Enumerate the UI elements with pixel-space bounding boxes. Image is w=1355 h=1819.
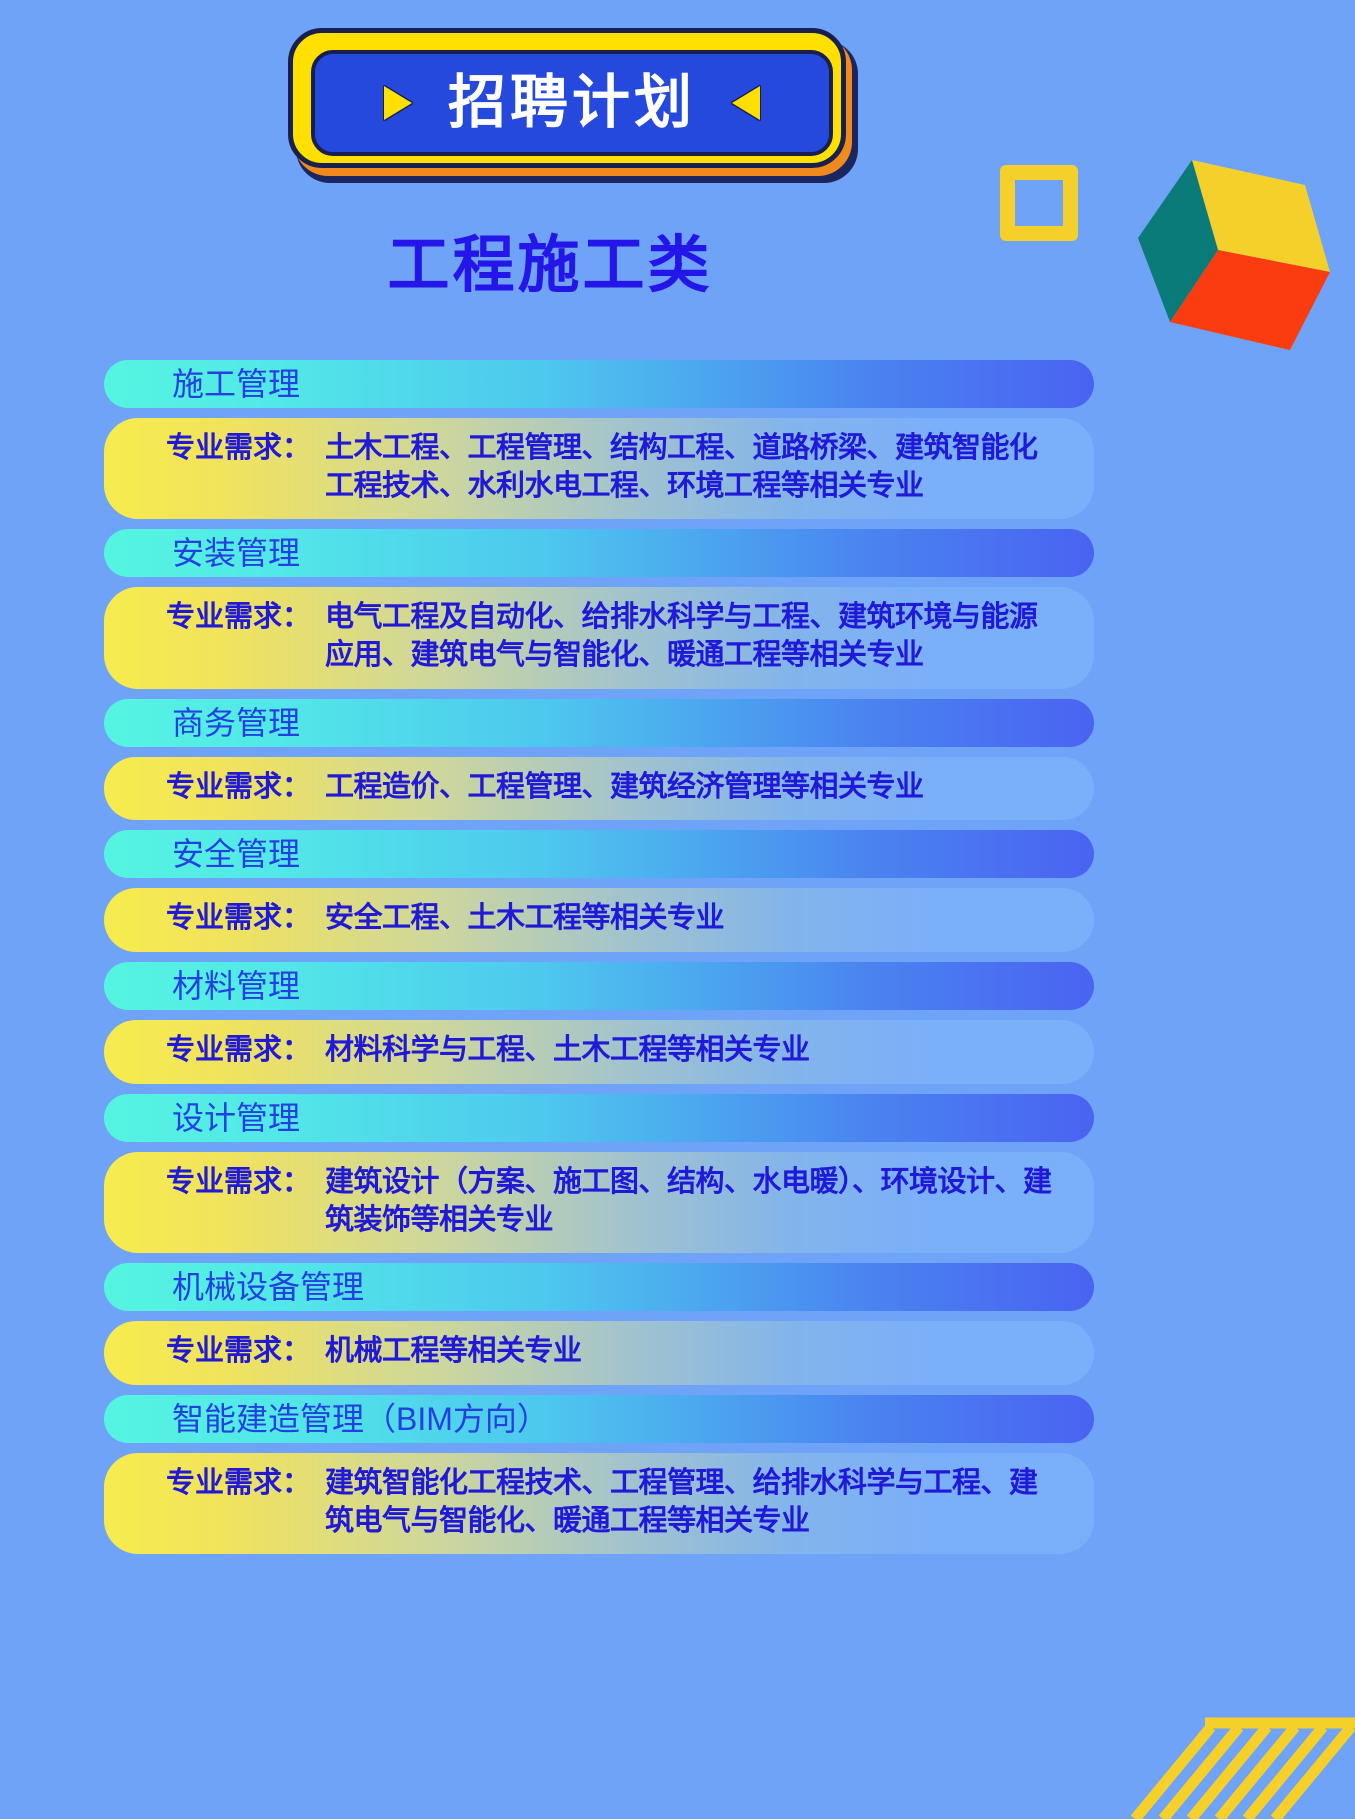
- job-block: 机械设备管理 专业需求： 机械工程等相关专业: [104, 1263, 1094, 1385]
- category-pill-6[interactable]: 机械设备管理: [104, 1263, 1094, 1311]
- requirement-label: 专业需求：: [166, 1032, 311, 1070]
- requirement-label: 专业需求：: [166, 430, 311, 468]
- header-banner: 招聘计划: [288, 28, 858, 183]
- job-block: 智能建造管理（BIM方向） 专业需求： 建筑智能化工程技术、工程管理、给排水科学…: [104, 1395, 1094, 1554]
- job-block: 安全管理 专业需求： 安全工程、土木工程等相关专业: [104, 830, 1094, 952]
- detail-pill-7: 专业需求： 建筑智能化工程技术、工程管理、给排水科学与工程、建筑电气与智能化、暖…: [104, 1453, 1094, 1554]
- category-pill-7[interactable]: 智能建造管理（BIM方向）: [104, 1395, 1094, 1443]
- category-pill-1[interactable]: 安装管理: [104, 529, 1094, 577]
- requirement-value: 机械工程等相关专业: [325, 1333, 582, 1371]
- category-label: 商务管理: [172, 707, 300, 739]
- detail-pill-4: 专业需求： 材料科学与工程、土木工程等相关专业: [104, 1020, 1094, 1084]
- category-label: 设计管理: [172, 1102, 300, 1134]
- requirement-value: 土木工程、工程管理、结构工程、道路桥梁、建筑智能化工程技术、水利水电工程、环境工…: [325, 430, 1064, 505]
- triangle-left-icon: [732, 86, 760, 120]
- job-list: 施工管理 专业需求： 土木工程、工程管理、结构工程、道路桥梁、建筑智能化工程技术…: [104, 360, 1094, 1564]
- job-block: 材料管理 专业需求： 材料科学与工程、土木工程等相关专业: [104, 962, 1094, 1084]
- banner-inner-panel: 招聘计划: [311, 50, 833, 156]
- detail-pill-1: 专业需求： 电气工程及自动化、给排水科学与工程、建筑环境与能源应用、建筑电气与智…: [104, 587, 1094, 688]
- requirement-label: 专业需求：: [166, 1164, 311, 1202]
- category-label: 智能建造管理（BIM方向）: [172, 1403, 549, 1435]
- detail-pill-0: 专业需求： 土木工程、工程管理、结构工程、道路桥梁、建筑智能化工程技术、水利水电…: [104, 418, 1094, 519]
- job-block: 施工管理 专业需求： 土木工程、工程管理、结构工程、道路桥梁、建筑智能化工程技术…: [104, 360, 1094, 519]
- requirement-value: 工程造价、工程管理、建筑经济管理等相关专业: [325, 769, 924, 807]
- category-label: 安装管理: [172, 537, 300, 569]
- requirement-value: 电气工程及自动化、给排水科学与工程、建筑环境与能源应用、建筑电气与智能化、暖通工…: [325, 599, 1064, 674]
- job-block: 商务管理 专业需求： 工程造价、工程管理、建筑经济管理等相关专业: [104, 699, 1094, 821]
- banner-title: 招聘计划: [448, 74, 696, 132]
- requirement-value: 建筑智能化工程技术、工程管理、给排水科学与工程、建筑电气与智能化、暖通工程等相关…: [325, 1465, 1064, 1540]
- detail-pill-5: 专业需求： 建筑设计（方案、施工图、结构、水电暖）、环境设计、建筑装饰等相关专业: [104, 1152, 1094, 1253]
- detail-pill-6: 专业需求： 机械工程等相关专业: [104, 1321, 1094, 1385]
- category-label: 机械设备管理: [172, 1271, 364, 1303]
- requirement-label: 专业需求：: [166, 1465, 311, 1503]
- requirement-label: 专业需求：: [166, 1333, 311, 1371]
- stripes-decoration: [1125, 1669, 1355, 1819]
- cube-icon: [1130, 150, 1355, 375]
- category-label: 材料管理: [172, 970, 300, 1002]
- category-pill-5[interactable]: 设计管理: [104, 1094, 1094, 1142]
- banner-yellow-frame: 招聘计划: [288, 28, 846, 168]
- triangle-right-icon: [384, 86, 412, 120]
- requirement-value: 安全工程、土木工程等相关专业: [325, 900, 724, 938]
- category-pill-3[interactable]: 安全管理: [104, 830, 1094, 878]
- detail-pill-2: 专业需求： 工程造价、工程管理、建筑经济管理等相关专业: [104, 757, 1094, 821]
- requirement-value: 建筑设计（方案、施工图、结构、水电暖）、环境设计、建筑装饰等相关专业: [325, 1164, 1064, 1239]
- category-pill-4[interactable]: 材料管理: [104, 962, 1094, 1010]
- category-pill-2[interactable]: 商务管理: [104, 699, 1094, 747]
- category-label: 安全管理: [172, 838, 300, 870]
- job-block: 安装管理 专业需求： 电气工程及自动化、给排水科学与工程、建筑环境与能源应用、建…: [104, 529, 1094, 688]
- requirement-label: 专业需求：: [166, 599, 311, 637]
- stripes-icon: [1125, 1669, 1355, 1819]
- category-label: 施工管理: [172, 368, 300, 400]
- requirement-label: 专业需求：: [166, 900, 311, 938]
- cube-decoration: [1130, 150, 1355, 375]
- requirement-label: 专业需求：: [166, 769, 311, 807]
- square-outline-decoration: [1000, 165, 1078, 241]
- detail-pill-3: 专业需求： 安全工程、土木工程等相关专业: [104, 888, 1094, 952]
- page-subtitle: 工程施工类: [0, 232, 1100, 300]
- category-pill-0[interactable]: 施工管理: [104, 360, 1094, 408]
- requirement-value: 材料科学与工程、土木工程等相关专业: [325, 1032, 810, 1070]
- job-block: 设计管理 专业需求： 建筑设计（方案、施工图、结构、水电暖）、环境设计、建筑装饰…: [104, 1094, 1094, 1253]
